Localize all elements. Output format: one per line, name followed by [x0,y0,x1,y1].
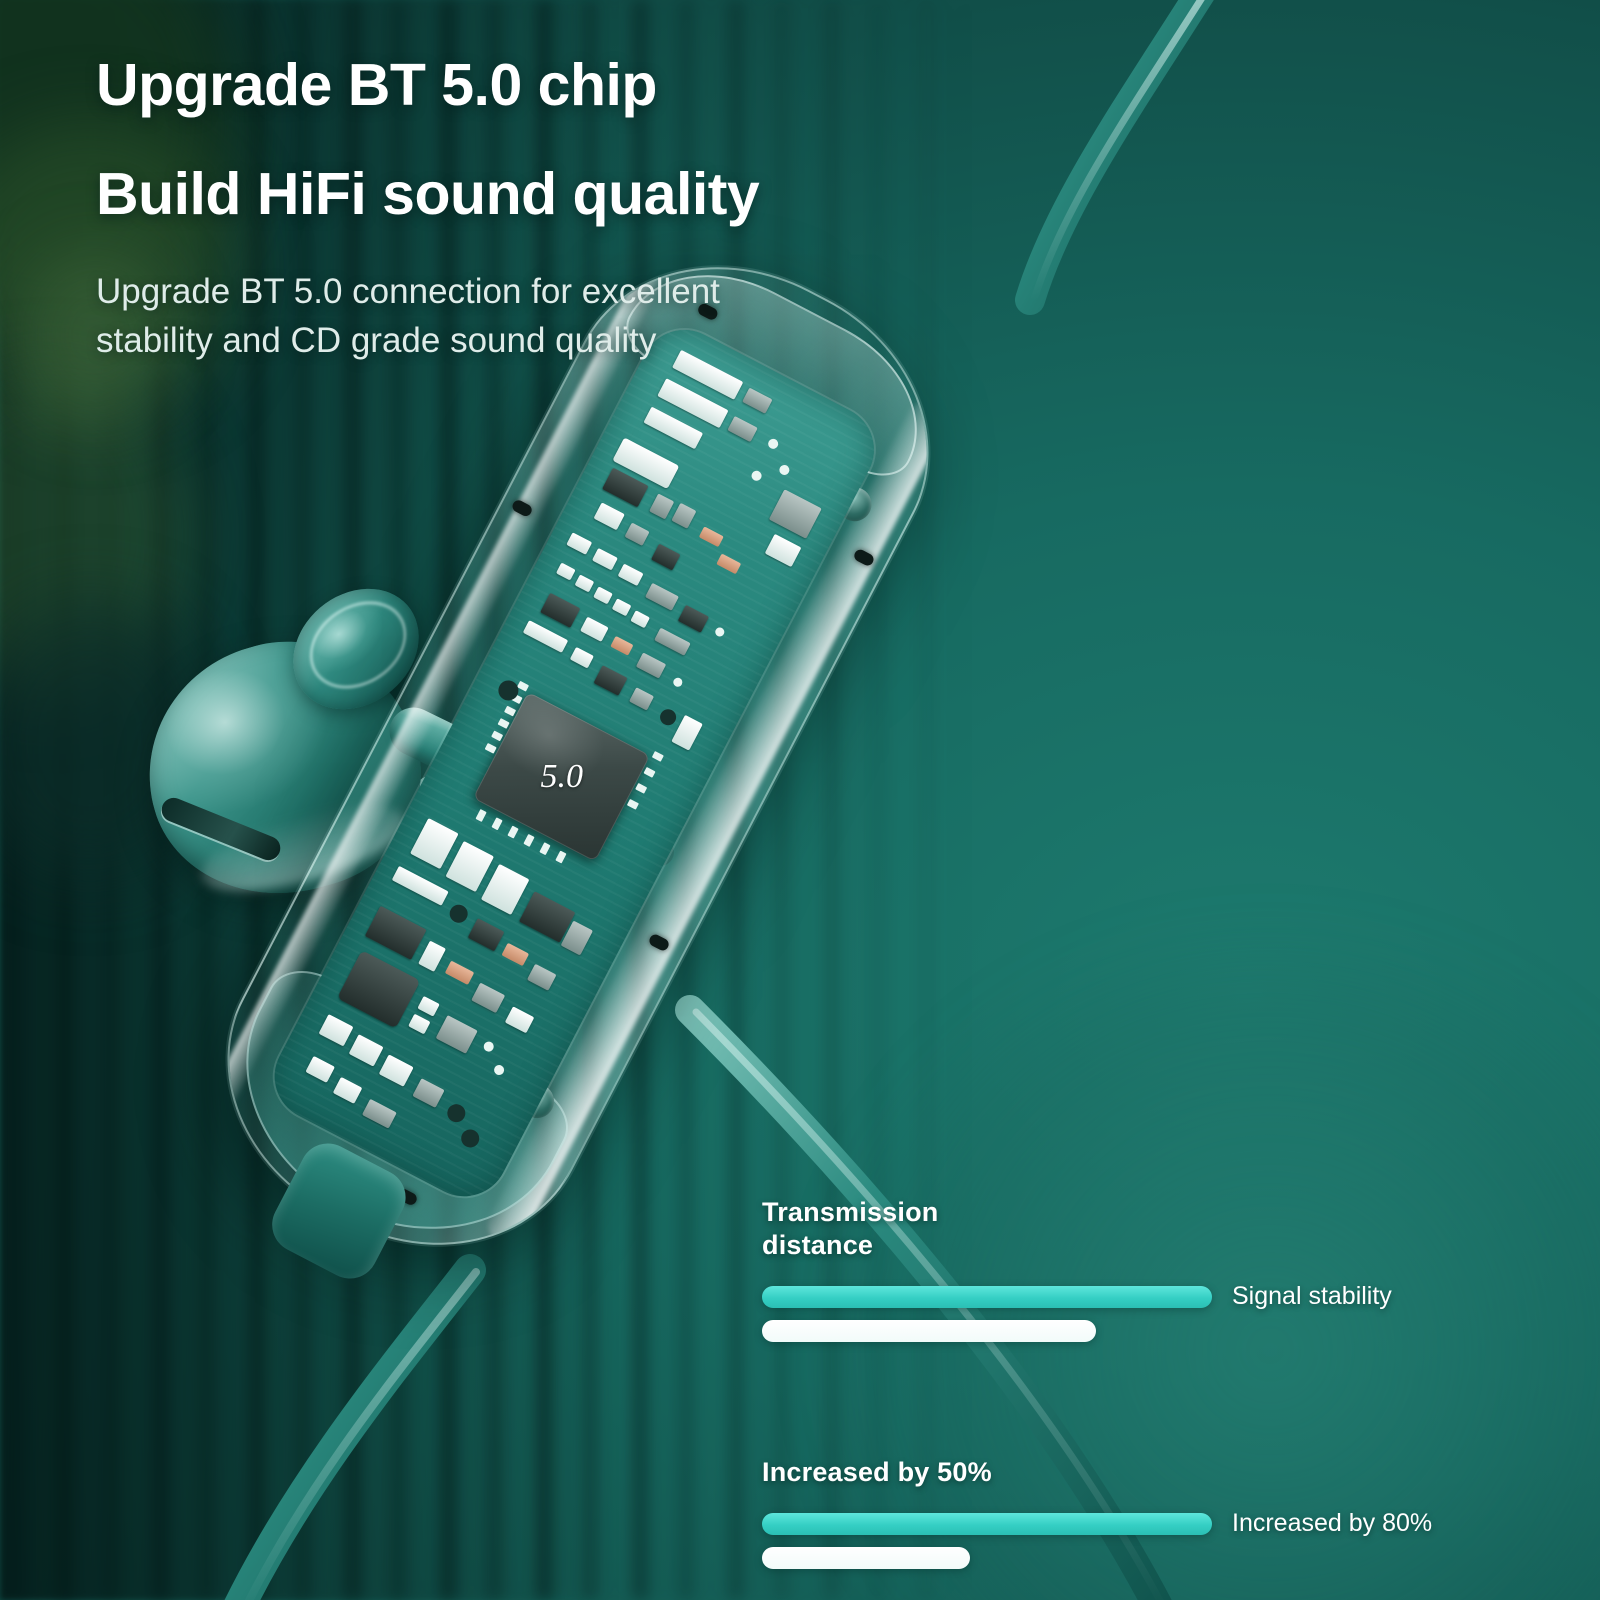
bar-list: Signal stability [762,1280,1482,1348]
bar-side-label: Signal stability [1232,1282,1392,1311]
bar-increased-80 [762,1513,1212,1535]
bar-row: Increased by 80% [762,1507,1482,1541]
stat-group-title: Increased by 50% [762,1456,1482,1489]
bar-row [762,1541,1482,1575]
copy-block: Upgrade BT 5.0 chip Build HiFi sound qua… [96,52,996,366]
bluetooth-chip: 5.0 [473,692,651,862]
bar-side-label: Increased by 80% [1232,1509,1432,1538]
stats-panel: Transmission distance Signal stability I… [762,1196,1482,1575]
bar-row: Signal stability [762,1280,1482,1314]
bar-signal-stability [762,1286,1212,1308]
stat-group-increase: Increased by 50% Increased by 80% [762,1456,1482,1575]
bar-row [762,1314,1482,1348]
stat-group-transmission: Transmission distance Signal stability [762,1196,1482,1348]
bar-increased-50 [762,1547,970,1569]
chip-version-label: 5.0 [540,758,583,796]
headline-line-1: Upgrade BT 5.0 chip [96,52,996,119]
bar-transmission-distance [762,1320,1096,1342]
subcopy-paragraph: Upgrade BT 5.0 connection for excellent … [96,267,796,366]
stat-group-title: Transmission distance [762,1196,1482,1262]
bar-list: Increased by 80% [762,1507,1482,1575]
product-feature-banner: 5.0 [0,0,1600,1600]
headline-line-2: Build HiFi sound quality [96,161,996,228]
